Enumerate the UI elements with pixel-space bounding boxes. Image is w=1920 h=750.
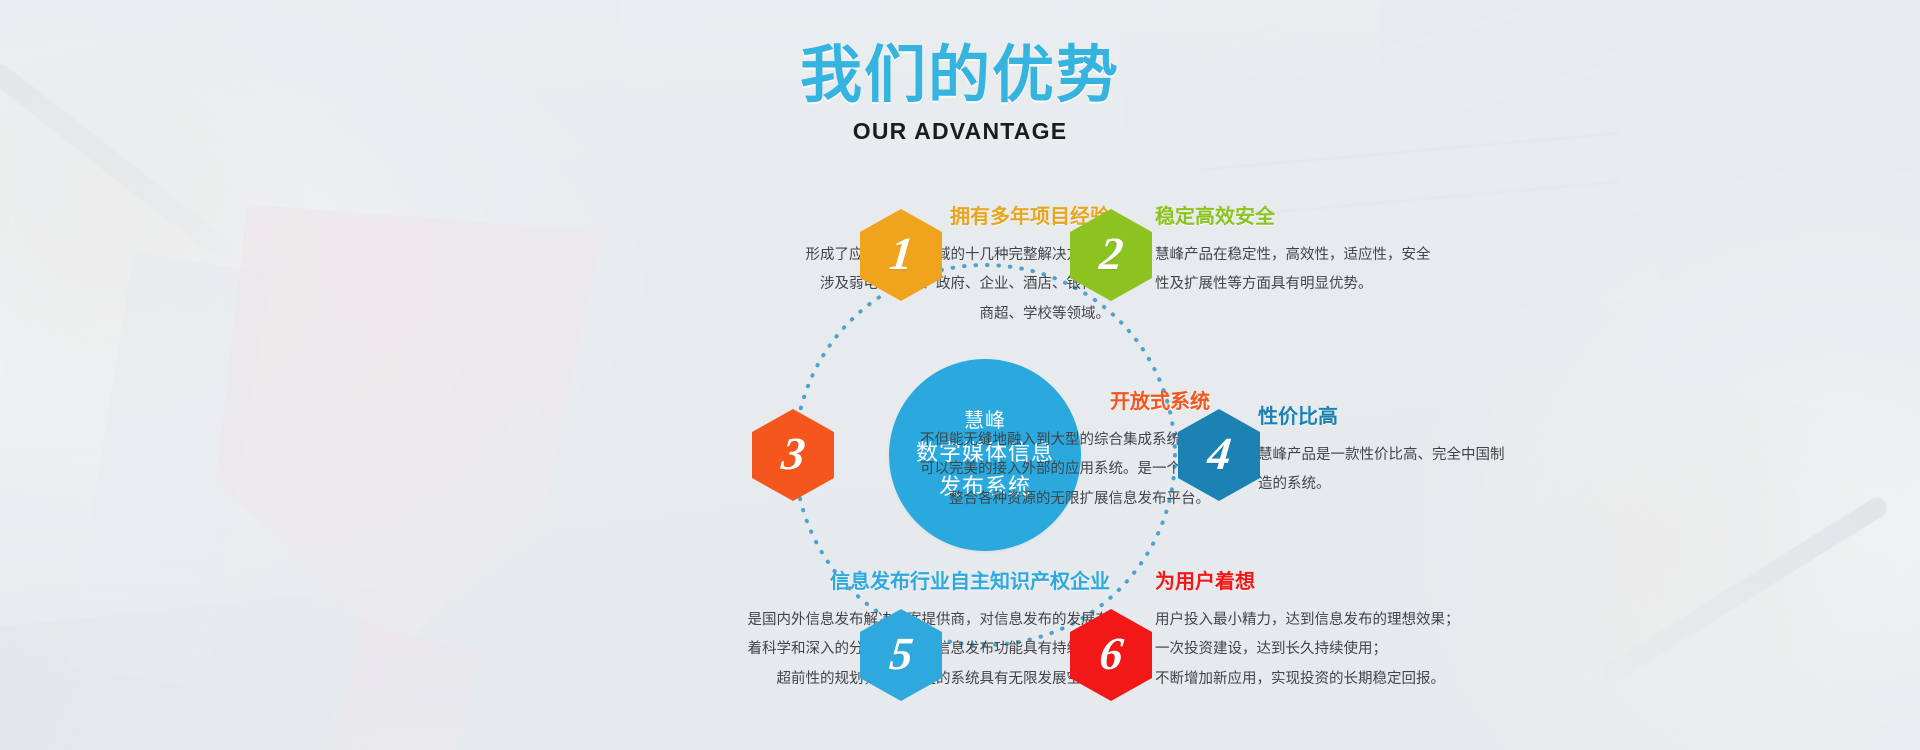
page-header: 我们的优势 OUR ADVANTAGE [0,44,1920,145]
advantage-body-1: 形成了应用于不同领域的十几种完整解决方案。 涉及弱电、安防、政府、企业、酒店、银… [780,241,1110,329]
hex-number-3: 3 [779,431,807,477]
advantage-heading-2: 稳定高效安全 [1155,205,1515,229]
advantage-body-3: 不但能无缝地融入到大型的综合集成系统，还 可以完美的接入外部的应用系统。是一个能… [850,426,1210,514]
advantage-block-6: 为用户着想 用户投入最小精力，达到信息发布的理想效果； 一次投资建设，达到长久持… [1155,570,1535,694]
hex-number-2: 2 [1097,231,1125,277]
advantage-heading-4: 性价比高 [1258,405,1588,429]
advantage-block-1: 拥有多年项目经验 形成了应用于不同领域的十几种完整解决方案。 涉及弱电、安防、政… [780,205,1110,329]
hex-number-4: 4 [1205,431,1233,477]
advantages-infographic: 我们的优势 OUR ADVANTAGE 慧峰 数字媒体信息 发布系统 1 2 3… [0,0,1920,750]
hex-number-1: 1 [887,231,915,277]
advantage-block-2: 稳定高效安全 慧峰产品在稳定性，高效性，适应性，安全 性及扩展性等方面具有明显优… [1155,205,1515,300]
advantage-heading-3: 开放式系统 [850,390,1210,414]
advantage-heading-6: 为用户着想 [1155,570,1535,594]
hex-number-5: 5 [887,631,915,677]
page-title-en: OUR ADVANTAGE [0,118,1920,145]
advantage-heading-5: 信息发布行业自主知识产权企业 [690,570,1110,594]
advantage-block-3: 开放式系统 不但能无缝地融入到大型的综合集成系统，还 可以完美的接入外部的应用系… [850,390,1210,514]
advantage-body-6: 用户投入最小精力，达到信息发布的理想效果； 一次投资建设，达到长久持续使用； 不… [1155,606,1535,694]
advantage-block-4: 性价比高 慧峰产品是一款性价比高、完全中国制 造的系统。 [1258,405,1588,500]
page-title-cn: 我们的优势 [0,44,1920,108]
advantage-heading-1: 拥有多年项目经验 [780,205,1110,229]
hex-number-6: 6 [1097,631,1125,677]
advantage-body-2: 慧峰产品在稳定性，高效性，适应性，安全 性及扩展性等方面具有明显优势。 [1155,241,1515,300]
advantage-body-4: 慧峰产品是一款性价比高、完全中国制 造的系统。 [1258,441,1588,500]
